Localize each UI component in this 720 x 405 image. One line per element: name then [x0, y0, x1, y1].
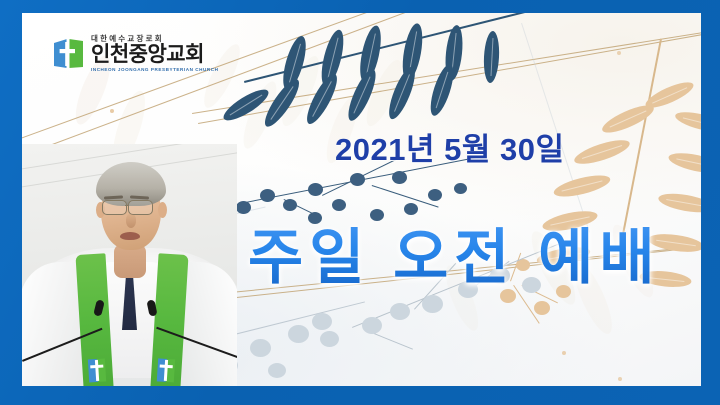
worship-title-card: 대한예수교장로회 인천중앙교회 INCHEON JOONGANG PRESBYT… — [0, 0, 720, 405]
service-title: 주일 오전 예배 — [248, 209, 661, 296]
tan-dot — [617, 51, 621, 55]
berry — [260, 189, 275, 202]
berry — [268, 363, 286, 378]
stole-logo-badge — [88, 358, 106, 382]
berry — [422, 295, 443, 313]
mouth — [120, 232, 140, 240]
berry — [288, 325, 309, 343]
tan-dot — [562, 351, 566, 355]
berry — [320, 331, 339, 347]
nose — [126, 214, 136, 228]
berry — [454, 183, 467, 194]
service-date: 2021년 5월 30일 — [335, 124, 564, 169]
glasses-lens-right — [128, 200, 153, 215]
ear-right — [158, 202, 167, 218]
glasses-bridge — [125, 205, 129, 206]
church-logo[interactable]: 대한예수교장로회 인천중앙교회 INCHEON JOONGANG PRESBYT… — [52, 35, 219, 72]
berry — [428, 189, 442, 201]
berry — [312, 313, 332, 330]
berry — [250, 339, 271, 357]
logo-english-name: INCHEON JOONGANG PRESBYTERIAN CHURCH — [91, 68, 219, 73]
tan-dot — [110, 109, 114, 113]
open-book-cross-icon — [52, 36, 85, 72]
logo-text-block: 대한예수교장로회 인천중앙교회 INCHEON JOONGANG PRESBYT… — [91, 35, 219, 72]
glasses-lens-left — [102, 200, 127, 215]
stole-logo-badge — [157, 358, 175, 382]
logo-denomination: 대한예수교장로회 — [91, 35, 219, 43]
tan-dot — [618, 377, 622, 381]
berry — [390, 303, 410, 320]
logo-church-name: 인천중앙교회 — [91, 44, 219, 66]
pastor-photo — [22, 144, 237, 386]
berry — [308, 183, 323, 196]
inner-white-card: 대한예수교장로회 인천중앙교회 INCHEON JOONGANG PRESBYT… — [22, 13, 701, 386]
berry — [362, 317, 382, 334]
berry — [392, 171, 407, 184]
berry — [534, 301, 550, 315]
berry — [350, 173, 365, 186]
